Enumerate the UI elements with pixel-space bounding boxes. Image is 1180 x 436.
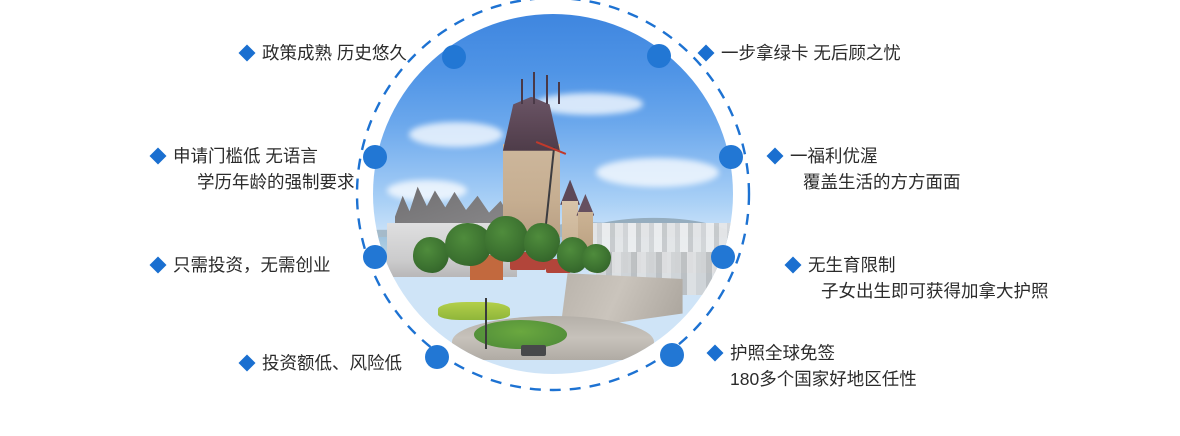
diamond-bullet-icon — [150, 148, 167, 165]
feature-label-text: 一步拿绿卡 无后顾之忧 — [721, 40, 901, 66]
ring-dot — [425, 345, 449, 369]
feature-label-line1: 无生育限制 — [808, 252, 1049, 278]
feature-label-text: 政策成熟 历史悠久 — [262, 40, 407, 66]
feature-label-text: 护照全球免签 180多个国家好地区任性 — [730, 340, 917, 392]
dashed-ring — [355, 0, 751, 392]
diamond-bullet-icon — [785, 257, 802, 274]
feature-label-line2: 覆盖生活的方方面面 — [790, 169, 961, 195]
feature-label-low-amount-low-risk: 投资额低、风险低 — [241, 350, 402, 376]
feature-label-line2: 学历年龄的强制要求 — [173, 169, 355, 195]
ring-dot — [363, 245, 387, 269]
feature-label-text: 一福利优渥 覆盖生活的方方面面 — [790, 143, 961, 195]
feature-label-line1: 投资额低、风险低 — [262, 350, 402, 376]
infographic-canvas: 政策成熟 历史悠久 一步拿绿卡 无后顾之忧 申请门槛低 无语言 学历年龄的强制要… — [0, 0, 1180, 436]
feature-label-line1: 一步拿绿卡 无后顾之忧 — [721, 40, 901, 66]
diamond-bullet-icon — [698, 45, 715, 62]
ring-dot — [711, 245, 735, 269]
feature-label-text: 申请门槛低 无语言 学历年龄的强制要求 — [173, 143, 355, 195]
feature-label-visa-free: 护照全球免签 180多个国家好地区任性 — [709, 340, 917, 392]
feature-label-line1: 只需投资，无需创业 — [173, 252, 331, 278]
ring-dot — [660, 343, 684, 367]
diamond-bullet-icon — [767, 148, 784, 165]
diamond-bullet-icon — [239, 355, 256, 372]
ring-dot — [363, 145, 387, 169]
diamond-bullet-icon — [239, 45, 256, 62]
ring-dot — [442, 45, 466, 69]
feature-label-line2: 子女出生即可获得加拿大护照 — [808, 278, 1049, 304]
feature-label-line2: 180多个国家好地区任性 — [730, 366, 917, 392]
feature-label-text: 只需投资，无需创业 — [173, 252, 331, 278]
ring-dot — [719, 145, 743, 169]
feature-label-welfare: 一福利优渥 覆盖生活的方方面面 — [769, 143, 961, 195]
feature-label-invest-only: 只需投资，无需创业 — [152, 252, 331, 278]
diamond-bullet-icon — [707, 345, 724, 362]
feature-label-line1: 政策成熟 历史悠久 — [262, 40, 407, 66]
diamond-bullet-icon — [150, 257, 167, 274]
feature-label-line1: 申请门槛低 无语言 — [173, 143, 355, 169]
ring-dot — [647, 44, 671, 68]
feature-label-green-card: 一步拿绿卡 无后顾之忧 — [700, 40, 901, 66]
feature-label-line1: 一福利优渥 — [790, 143, 961, 169]
feature-label-low-threshold: 申请门槛低 无语言 学历年龄的强制要求 — [152, 143, 355, 195]
feature-label-text: 无生育限制 子女出生即可获得加拿大护照 — [808, 252, 1049, 304]
feature-label-line1: 护照全球免签 — [730, 340, 917, 366]
feature-label-text: 投资额低、风险低 — [262, 350, 402, 376]
feature-label-no-birth-limit: 无生育限制 子女出生即可获得加拿大护照 — [787, 252, 1049, 304]
feature-label-policy-mature: 政策成熟 历史悠久 — [241, 40, 407, 66]
